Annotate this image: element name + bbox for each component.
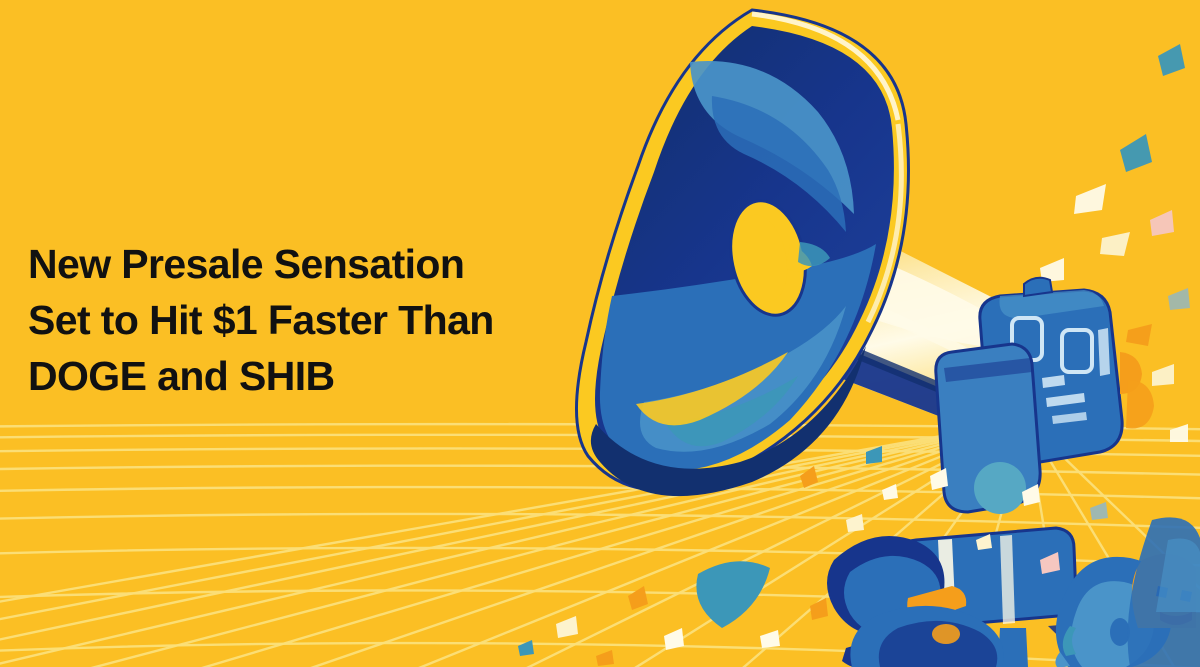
tripod-mount-bracket bbox=[936, 278, 1154, 514]
crowd-figure-shoulder bbox=[1128, 517, 1200, 667]
crowd-figure-left bbox=[827, 536, 966, 667]
tripod-legs bbox=[898, 528, 1120, 667]
megaphone-body bbox=[717, 190, 1094, 471]
crowd-figure-far-right bbox=[1132, 554, 1196, 628]
megaphone-cone bbox=[576, 10, 908, 496]
perspective-grid-background bbox=[0, 400, 1200, 667]
grid-svg bbox=[0, 400, 1200, 667]
headline-line-2: Set to Hit $1 Faster Than bbox=[28, 292, 608, 348]
confetti-back bbox=[1040, 44, 1190, 442]
crowd-figure-center bbox=[850, 606, 1003, 667]
headline-line-1: New Presale Sensation bbox=[28, 236, 608, 292]
headline: New Presale Sensation Set to Hit $1 Fast… bbox=[28, 236, 608, 404]
crowd-figures bbox=[827, 517, 1200, 667]
confetti-front bbox=[518, 446, 1108, 666]
headline-line-3: DOGE and SHIB bbox=[28, 348, 608, 404]
presale-banner: New Presale Sensation Set to Hit $1 Fast… bbox=[0, 0, 1200, 667]
crowd-figure-right-profile bbox=[1055, 557, 1172, 667]
